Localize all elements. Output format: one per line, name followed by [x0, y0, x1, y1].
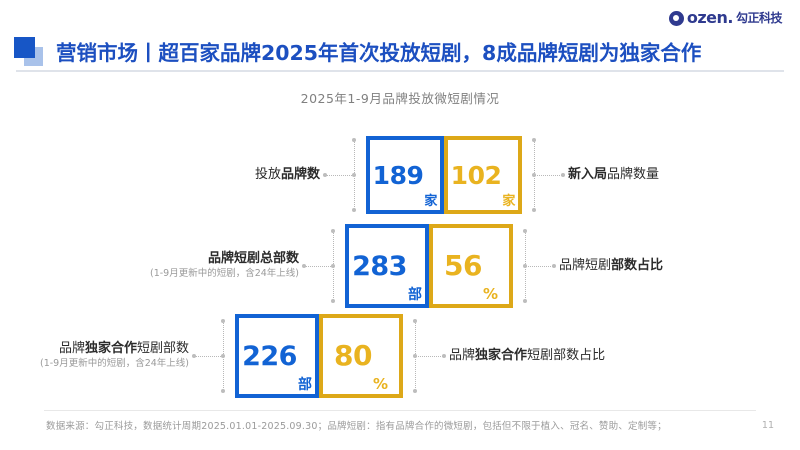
connector-dot-middle [331, 264, 335, 268]
metric-row-1: 投放品牌数 189 家 102 家 新入局品牌数量 [255, 131, 659, 219]
row-2-blue-value-box: 283 部 [345, 224, 429, 308]
connector-horizontal-line [415, 356, 443, 357]
connector-dot-end [561, 173, 565, 177]
row-2-gold-value: 56 [444, 252, 482, 280]
row-1-blue-value-box: 189 家 [366, 136, 444, 214]
logo-chinese-name: 勾正科技 [736, 12, 782, 24]
row-1-blue-value: 189 [373, 163, 424, 188]
footer-divider [44, 410, 756, 411]
row-1-gold-value: 102 [451, 163, 502, 188]
row-1-gold-value-box: 102 家 [444, 136, 522, 214]
connector-dot-bottom [331, 299, 335, 303]
row-3-gold-value-box: 80 % [319, 314, 403, 398]
connector-dot-bottom [523, 299, 527, 303]
connector-dot-end [323, 173, 327, 177]
row-3-gold-unit: % [373, 377, 388, 394]
brand-logo: ozen. 勾正科技 [669, 10, 782, 26]
row-2-right-connector [513, 222, 559, 310]
connector-dot-middle [352, 173, 356, 177]
row-1-left-label-bold: 品牌数 [281, 167, 320, 182]
connector-dot-top [413, 319, 417, 323]
row-2-blue-value: 283 [352, 253, 407, 280]
row-3-left-connector [189, 312, 235, 400]
connector-dot-middle [221, 354, 225, 358]
metric-row-2: 品牌短剧总部数 (1-9月更新中的短剧，含24年上线) 283 部 56 % 品… [150, 222, 663, 310]
connector-dot-bottom [221, 389, 225, 393]
connector-dot-bottom [532, 208, 536, 212]
row-2-right-label: 品牌短剧部数占比 [559, 258, 663, 274]
row-1-right-label-suffix: 品牌数量 [607, 167, 659, 182]
row-3-right-connector [403, 312, 449, 400]
row-1-right-connector [522, 131, 568, 219]
row-2-left-connector [299, 222, 345, 310]
row-2-left-label-bold: 品牌短剧总部数 [208, 251, 299, 266]
row-3-right-label-text: 品牌独家合作短剧部数占比 [449, 348, 605, 364]
row-3-right-label-prefix: 品牌 [449, 348, 475, 363]
connector-dot-end [302, 264, 306, 268]
row-1-left-label: 投放品牌数 [255, 167, 320, 183]
connector-horizontal-line [534, 175, 562, 176]
title-decoration-squares [14, 37, 44, 67]
row-3-left-label-sub: (1-9月更新中的短剧，含24年上线) [40, 358, 189, 370]
row-1-gold-unit: 家 [502, 195, 515, 210]
row-3-right-label-bold: 独家合作 [475, 348, 527, 363]
row-2-value-boxes: 283 部 56 % [345, 224, 513, 308]
connector-dot-bottom [352, 208, 356, 212]
gozen-circle-logo-icon [669, 11, 684, 26]
connector-dot-middle [523, 264, 527, 268]
row-3-left-label-bold: 独家合作 [85, 341, 137, 356]
connector-dot-bottom [413, 389, 417, 393]
row-3-left-label-prefix: 品牌 [59, 341, 85, 356]
connector-dot-end [192, 354, 196, 358]
title-divider [16, 70, 784, 72]
connector-dot-middle [413, 354, 417, 358]
page-title: 营销市场丨超百家品牌2025年首次投放短剧，8成品牌短剧为独家合作 [56, 36, 701, 66]
row-1-right-label: 新入局品牌数量 [568, 167, 659, 183]
connector-dot-top [352, 138, 356, 142]
metric-row-3: 品牌独家合作短剧部数 (1-9月更新中的短剧，含24年上线) 226 部 80 … [40, 312, 605, 400]
connector-dot-top [331, 229, 335, 233]
row-1-left-label-prefix: 投放 [255, 167, 281, 182]
row-2-right-label-bold: 部数占比 [611, 258, 663, 273]
row-1-left-connector [320, 131, 366, 219]
row-3-blue-value-box: 226 部 [235, 314, 319, 398]
footer-source-note: 数据来源：勾正科技，数据统计周期2025.01.01-2025.09.30；品牌… [46, 418, 667, 432]
row-3-left-label-text: 品牌独家合作短剧部数 [59, 341, 189, 357]
connector-dot-middle [532, 173, 536, 177]
slide-title-row: 营销市场丨超百家品牌2025年首次投放短剧，8成品牌短剧为独家合作 [14, 36, 786, 70]
row-2-gold-unit: % [483, 287, 498, 304]
row-2-left-label-sub: (1-9月更新中的短剧，含24年上线) [150, 268, 299, 280]
connector-dot-end [552, 264, 556, 268]
row-3-left-label-suffix: 短剧部数 [137, 341, 189, 356]
connector-horizontal-line [525, 266, 553, 267]
row-3-value-boxes: 226 部 80 % [235, 314, 403, 398]
row-3-gold-value: 80 [334, 342, 372, 370]
connector-horizontal-line [195, 356, 223, 357]
row-2-gold-value-box: 56 % [429, 224, 513, 308]
row-2-blue-unit: 部 [408, 288, 422, 304]
chart-subtitle: 2025年1-9月品牌投放微短剧情况 [0, 88, 800, 107]
connector-horizontal-line [305, 266, 333, 267]
connector-dot-end [442, 354, 446, 358]
row-1-right-label-bold: 新入局 [568, 167, 607, 182]
connector-dot-top [523, 229, 527, 233]
row-2-right-label-prefix: 品牌短剧 [559, 258, 611, 273]
row-3-right-label: 品牌独家合作短剧部数占比 [449, 348, 605, 364]
connector-dot-top [221, 319, 225, 323]
row-1-blue-unit: 家 [424, 195, 437, 210]
row-2-right-label-text: 品牌短剧部数占比 [559, 258, 663, 274]
logo-wordmark: ozen. [687, 10, 733, 26]
row-3-left-label: 品牌独家合作短剧部数 (1-9月更新中的短剧，含24年上线) [40, 341, 189, 371]
row-2-left-label-text: 品牌短剧总部数 [208, 251, 299, 267]
connector-horizontal-line [326, 175, 354, 176]
row-1-left-label-text: 投放品牌数 [255, 167, 320, 183]
row-2-left-label: 品牌短剧总部数 (1-9月更新中的短剧，含24年上线) [150, 251, 299, 281]
deco-square-dark [14, 37, 35, 58]
row-3-right-label-suffix: 短剧部数占比 [527, 348, 605, 363]
row-1-value-boxes: 189 家 102 家 [366, 136, 522, 214]
page-number: 11 [762, 420, 774, 431]
row-1-right-label-text: 新入局品牌数量 [568, 167, 659, 183]
connector-dot-top [532, 138, 536, 142]
row-3-blue-unit: 部 [298, 378, 312, 394]
row-3-blue-value: 226 [242, 343, 297, 370]
